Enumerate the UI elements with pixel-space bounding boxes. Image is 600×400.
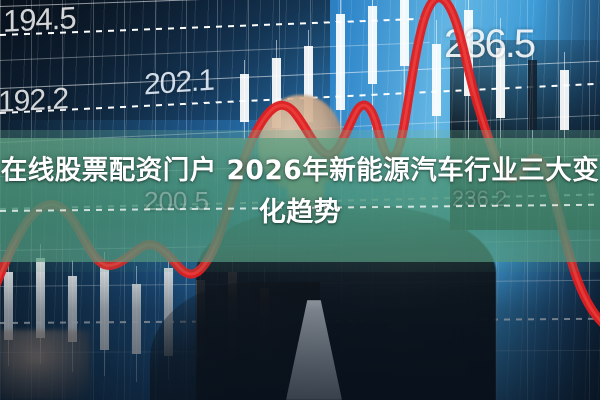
- banner-title: 在线股票配资门户 2026年新能源汽车行业三大变 化趋势: [0, 150, 600, 234]
- title-line-2: 化趋势: [0, 192, 600, 234]
- article-banner: 194.5 192.2 202.1 236.5 200.5 236.2 在线股票…: [0, 0, 600, 400]
- title-line-1: 在线股票配资门户 2026年新能源汽车行业三大变: [0, 150, 600, 192]
